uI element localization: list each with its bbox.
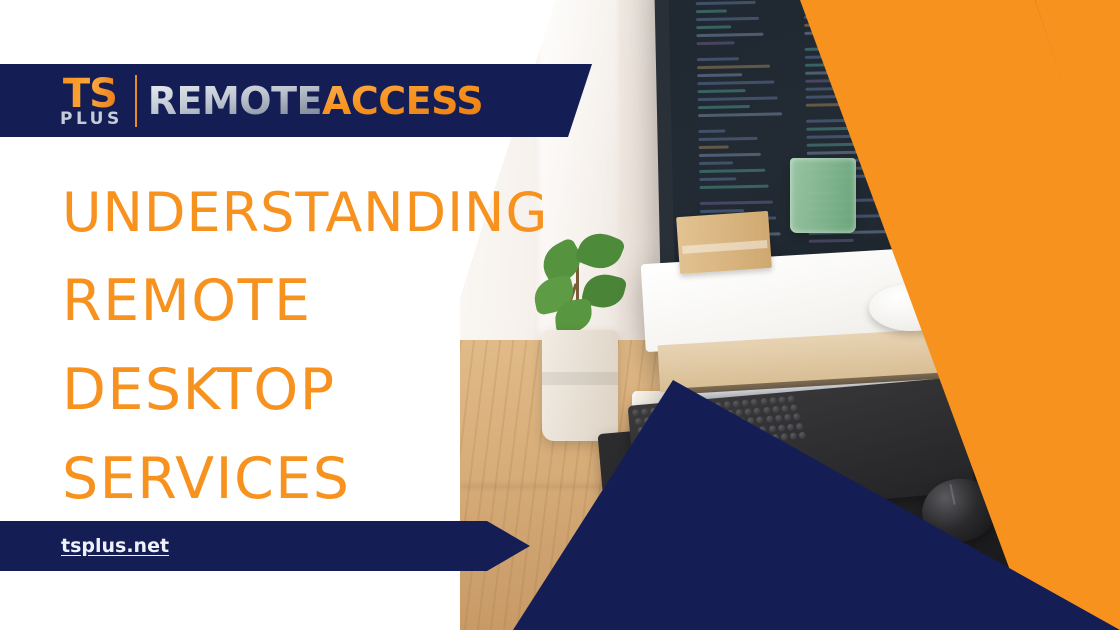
logo-ts-text: TS [63, 74, 117, 114]
logo-plus-text: PLUS [57, 111, 123, 128]
banner-canvas: TS PLUS REMOTE ACCESS UNDERSTANDING REMO… [0, 0, 1120, 630]
brand-header-bar: TS PLUS REMOTE ACCESS [0, 64, 592, 137]
title-line-3: DESKTOP [62, 346, 622, 435]
wooden-phone-stand [676, 211, 772, 274]
title-line-2: REMOTE [62, 257, 622, 346]
tsplus-logo[interactable]: TS PLUS REMOTE ACCESS [57, 74, 483, 128]
page-title: UNDERSTANDING REMOTE DESKTOP SERVICES [62, 168, 622, 524]
ts-plus-mark: TS PLUS [57, 74, 123, 128]
vertical-divider-icon [135, 75, 137, 127]
title-line-4: SERVICES [62, 435, 622, 524]
title-line-1: UNDERSTANDING [62, 168, 622, 257]
website-url-bar: tsplus.net [0, 521, 530, 571]
logo-remote-text: REMOTE [148, 79, 322, 123]
logo-access-text: ACCESS [322, 79, 483, 123]
website-url-link[interactable]: tsplus.net [61, 535, 169, 557]
product-name: REMOTE ACCESS [148, 79, 483, 123]
green-candle [790, 158, 856, 234]
